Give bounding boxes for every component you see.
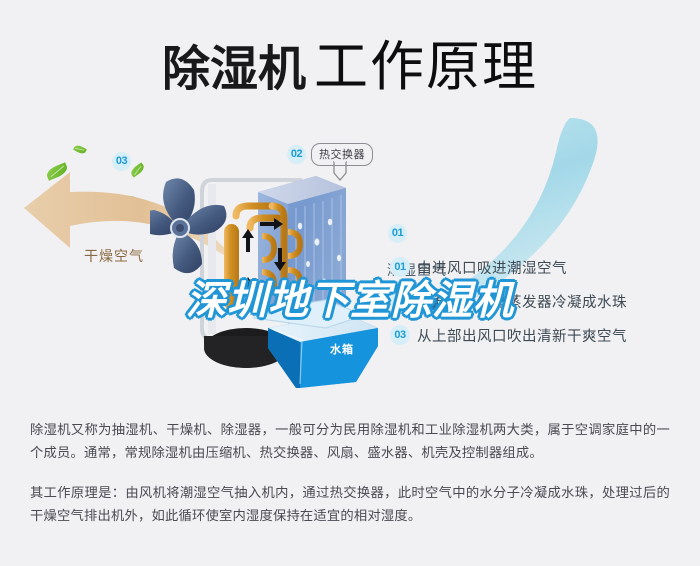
diagram-marker-01: 01 <box>388 224 407 243</box>
legend-text-02: 潮湿空气经过蒸发器冷凝成水珠 <box>417 291 627 312</box>
paragraph-1: 除湿机又称为抽湿机、干燥机、除湿器，一般可分为民用除湿机和工业除湿机两大类，属于… <box>30 418 670 464</box>
legend-badge-02: 02 <box>390 291 410 311</box>
legend-badge-01: 01 <box>390 257 410 277</box>
legend-item-02: 02 潮湿空气经过蒸发器冷凝成水珠 <box>390 290 690 312</box>
legend-text-03: 从上部出风口吹出清新干爽空气 <box>417 325 627 346</box>
legend-item-01: 01 由进风口吸进潮湿空气 <box>390 256 690 278</box>
diagram-marker-03: 03 <box>112 152 131 171</box>
water-tank-label: 水箱 <box>330 341 354 357</box>
page-title-part-1: 除湿机 <box>162 43 306 96</box>
callout-tail-icon <box>333 161 347 181</box>
legend-list: 01 由进风口吸进潮湿空气 02 潮湿空气经过蒸发器冷凝成水珠 03 从上部出风… <box>390 256 690 358</box>
body-copy: 除湿机又称为抽湿机、干燥机、除湿器，一般可分为民用除湿机和工业除湿机两大类，属于… <box>30 418 670 527</box>
dry-air-label: 干燥空气 <box>84 246 144 266</box>
page-title: 除湿机工作原理 <box>0 22 700 101</box>
leaf-icon <box>73 143 87 155</box>
page-root: 除湿机工作原理 <box>0 0 700 566</box>
legend-text-01: 由进风口吸进潮湿空气 <box>417 257 567 278</box>
legend-badge-03: 03 <box>390 325 410 345</box>
diagram-marker-02: 02 <box>287 145 306 164</box>
dehumidifier-unit <box>150 132 410 392</box>
page-title-part-2: 工作原理 <box>314 37 538 97</box>
paragraph-2: 其工作原理是：由风机将潮湿空气抽入机内，通过热交换器，此时空气中的水分子冷凝成水… <box>30 481 670 527</box>
legend-item-03: 03 从上部出风口吹出清新干爽空气 <box>390 324 690 346</box>
